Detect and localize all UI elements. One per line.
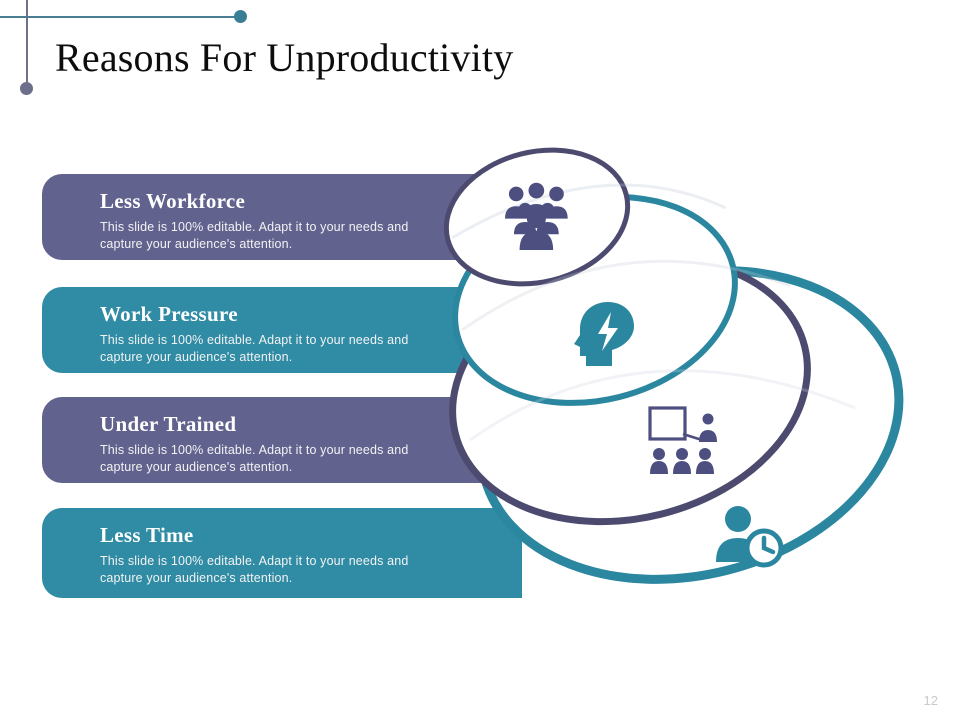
teal-dot-icon xyxy=(234,10,247,23)
header-vertical-line xyxy=(26,0,28,88)
panel-under-trained[interactable]: Under Trained This slide is 100% editabl… xyxy=(42,397,522,483)
panel-body: This slide is 100% editable. Adapt it to… xyxy=(100,332,430,366)
header-horizontal-line xyxy=(0,16,238,18)
page-number: 12 xyxy=(924,693,938,708)
panel-title: Less Workforce xyxy=(100,188,502,214)
panel-title: Work Pressure xyxy=(100,301,502,327)
panel-title: Less Time xyxy=(100,522,502,548)
panel-body: This slide is 100% editable. Adapt it to… xyxy=(100,219,430,253)
head-with-lightning-bolt-icon xyxy=(574,302,634,366)
panel-less-time[interactable]: Less Time This slide is 100% editable. A… xyxy=(42,508,522,598)
page-title: Reasons For Unproductivity xyxy=(55,32,514,84)
panel-title: Under Trained xyxy=(100,411,502,437)
slide-canvas: Reasons For Unproductivity Less Workforc… xyxy=(0,0,960,720)
person-with-clock-icon xyxy=(716,506,781,565)
purple-dot-icon xyxy=(20,82,33,95)
panel-less-workforce[interactable]: Less Workforce This slide is 100% editab… xyxy=(42,174,522,260)
panel-body: This slide is 100% editable. Adapt it to… xyxy=(100,553,430,587)
panel-work-pressure[interactable]: Work Pressure This slide is 100% editabl… xyxy=(42,287,522,373)
training-presentation-icon xyxy=(650,408,717,474)
panel-body: This slide is 100% editable. Adapt it to… xyxy=(100,442,430,476)
